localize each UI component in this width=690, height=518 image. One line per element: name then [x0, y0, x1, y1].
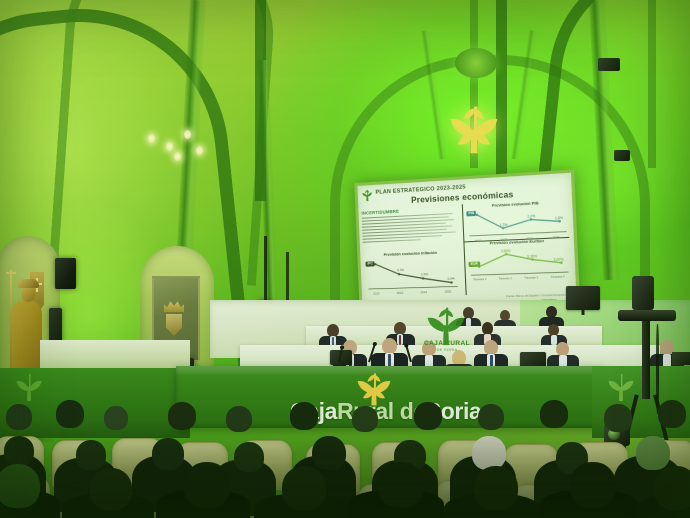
audience-head	[184, 462, 230, 508]
presenter-monitor	[566, 286, 600, 310]
audience-head	[352, 406, 378, 432]
chart-bottom-right-badge: EUR	[468, 262, 480, 268]
svg-text:3,60%: 3,60%	[501, 249, 511, 254]
audience-head	[540, 400, 568, 428]
projection-screen: PLAN ESTRATEGICO 2023-2025 Previsiones e…	[354, 169, 580, 311]
chart-bottom-left-badge: IPC	[365, 261, 374, 267]
svg-text:3,00%: 3,00%	[553, 257, 563, 262]
vault-keystone-boss	[455, 48, 497, 78]
audience-head	[152, 438, 184, 470]
microphone-stand-left-2	[286, 252, 289, 304]
chart-top-right-plot: 1,3% 2,0% 1,8% PIB	[464, 205, 569, 239]
camera-body	[632, 276, 654, 310]
audience	[0, 398, 690, 518]
podium-logo-subtext: DE SORIA	[408, 347, 486, 352]
chart-bottom-left-plot: 3,7% 2,6% 2,0% IPC	[363, 255, 460, 292]
audience-head	[312, 436, 346, 470]
svg-text:3,7%: 3,7%	[397, 268, 405, 272]
audience-head	[378, 462, 424, 508]
statue-head	[21, 286, 35, 302]
audience-head	[414, 402, 442, 430]
x-tick: Trimestre 4	[551, 275, 565, 279]
wheat-sheaf-logo	[447, 103, 501, 155]
x-tick: Trimestre 2	[499, 277, 513, 281]
audience-head	[76, 440, 106, 470]
stage-left-wing-table	[40, 340, 190, 370]
svg-text:2,0%: 2,0%	[527, 214, 535, 219]
audience-head	[478, 404, 504, 430]
audience-head	[0, 464, 40, 508]
audience-head	[604, 404, 632, 432]
conference-photo: PLAN ESTRATEGICO 2023-2025 Previsiones e…	[0, 0, 690, 518]
audience-head	[570, 462, 616, 508]
audience-head	[474, 466, 518, 510]
audience-head	[290, 402, 318, 430]
audience-head	[90, 468, 132, 510]
presentation-slide: PLAN ESTRATEGICO 2023-2025 Previsiones e…	[357, 173, 576, 308]
chart-bottom-right-plot: 3,60% 3,30% 3,00% EUR	[466, 243, 571, 278]
x-tick: Trimestre 1	[473, 278, 486, 282]
audience-head	[56, 400, 84, 428]
audience-head	[234, 442, 264, 472]
x-tick: 2022	[373, 292, 380, 296]
x-tick: 2025	[444, 290, 451, 294]
audience-head	[282, 466, 326, 510]
audience-head	[104, 406, 128, 430]
audience-head	[168, 402, 196, 430]
audience-head	[654, 466, 690, 510]
ceiling-camera-secondary	[614, 150, 630, 161]
audience-head	[4, 436, 34, 466]
svg-text:2,0%: 2,0%	[447, 276, 455, 280]
x-tick: 2024	[420, 290, 427, 294]
statue-mitre	[17, 279, 39, 288]
chart-top-right-badge: PIB	[466, 211, 476, 217]
microphone-stand-left	[264, 236, 267, 302]
chart-bottom-right: Previsión evolución Euribor 3,60% 3,30% …	[466, 238, 572, 290]
chandelier	[140, 100, 210, 160]
x-tick: 2023	[397, 291, 404, 295]
tripod-column	[642, 321, 650, 399]
audience-head	[226, 406, 252, 432]
line-array-speaker	[55, 258, 76, 289]
ceiling-camera	[598, 58, 620, 71]
svg-text:3,30%: 3,30%	[527, 254, 537, 259]
audience-head	[658, 400, 686, 428]
podium-logo-text: CAJA RURAL	[408, 340, 486, 347]
camera-crossbar	[618, 310, 676, 321]
svg-text:1,8%: 1,8%	[555, 216, 563, 221]
x-tick: Trimestre 3	[524, 276, 538, 280]
text-block-body	[362, 213, 458, 243]
svg-text:2,6%: 2,6%	[421, 272, 429, 276]
slide-footnote: Fuente: Banco de España / Comisión Europ…	[506, 293, 572, 298]
audience-head-bald	[472, 436, 506, 470]
audience-head	[6, 404, 32, 430]
svg-text:1,3%: 1,3%	[500, 223, 508, 228]
cross-icon	[6, 272, 16, 274]
chart-bottom-left: Previsión evolución inflación 3,7% 2,6% …	[363, 250, 460, 295]
audience-head	[636, 436, 670, 470]
